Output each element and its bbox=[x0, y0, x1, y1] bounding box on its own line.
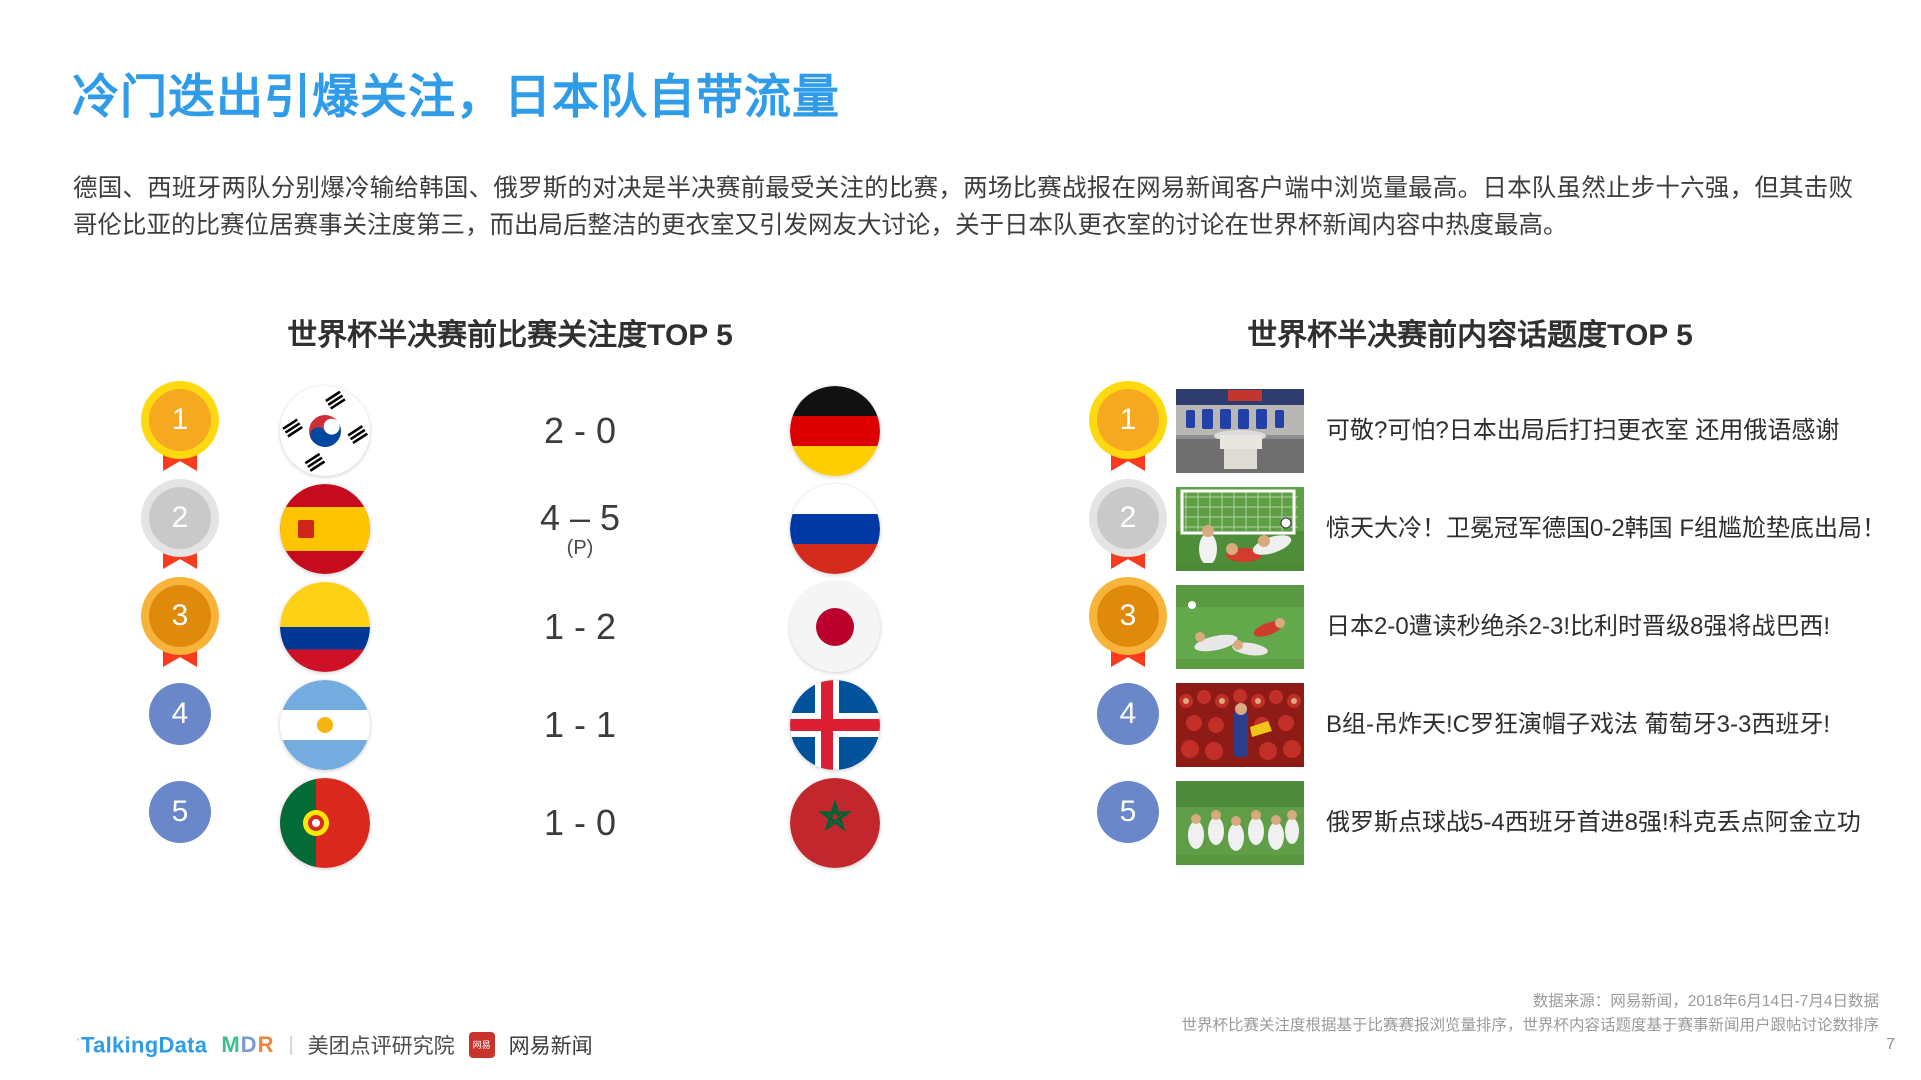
netease-news-logo: 网易新闻 bbox=[509, 1030, 593, 1060]
page-number: 7 bbox=[1886, 1036, 1895, 1054]
topic-row[interactable]: 4B组-吊炸天!C罗狂演帽子戏法 葡萄牙3-3西班牙! bbox=[1080, 676, 1920, 774]
rank-medal-5: 5 bbox=[1097, 781, 1159, 865]
home-team-cell bbox=[240, 680, 410, 770]
flag-south-korea-icon bbox=[280, 386, 370, 476]
rank-medal-1: 1 bbox=[149, 389, 211, 473]
match-row: 41 - 1 bbox=[120, 676, 920, 774]
topic-row[interactable]: 1可敬?可怕?日本出局后打扫更衣室 还用俄语感谢 bbox=[1080, 382, 1920, 480]
topic-rank-cell: 5 bbox=[1080, 781, 1176, 865]
locker-room-photo bbox=[1176, 389, 1304, 473]
match-rank-cell: 5 bbox=[120, 781, 240, 865]
rank-medal-3: 3 bbox=[1097, 585, 1159, 669]
match-score: 4 – 5(P) bbox=[410, 499, 750, 560]
match-score: 1 - 0 bbox=[410, 804, 750, 842]
logo-divider: | bbox=[288, 1034, 293, 1057]
away-team-cell bbox=[750, 778, 920, 868]
left-column-title: 世界杯半决赛前比赛关注度TOP 5 bbox=[130, 310, 890, 354]
topic-rank-cell: 3 bbox=[1080, 585, 1176, 669]
away-team-cell bbox=[750, 582, 920, 672]
rank-number: 1 bbox=[149, 389, 211, 451]
home-team-cell bbox=[240, 484, 410, 574]
away-team-cell bbox=[750, 386, 920, 476]
home-team-cell bbox=[240, 582, 410, 672]
rank-number: 2 bbox=[149, 487, 211, 549]
flag-spain-icon bbox=[280, 484, 370, 574]
rank-number: 4 bbox=[1097, 683, 1159, 745]
match-row: 12 - 0 bbox=[120, 382, 920, 480]
match-rank-cell: 3 bbox=[120, 585, 240, 669]
home-team-cell bbox=[240, 778, 410, 868]
flag-russia-icon bbox=[790, 484, 880, 574]
source-line-1: 数据来源：网易新闻，2018年6月14日-7月4日数据 bbox=[1181, 990, 1879, 1014]
match-rank-cell: 4 bbox=[120, 683, 240, 767]
flag-colombia-icon bbox=[280, 582, 370, 672]
flag-japan-icon bbox=[790, 582, 880, 672]
rank-number: 1 bbox=[1097, 389, 1159, 451]
flag-morocco-icon bbox=[790, 778, 880, 868]
rank-medal-4: 4 bbox=[149, 683, 211, 767]
flag-portugal-icon bbox=[280, 778, 370, 868]
topic-headline[interactable]: 可敬?可怕?日本出局后打扫更衣室 还用俄语感谢 bbox=[1326, 414, 1920, 448]
goal-save-photo bbox=[1176, 487, 1304, 571]
meituan-research-logo: 美团点评研究院 bbox=[308, 1030, 455, 1060]
rank-medal-2: 2 bbox=[1097, 487, 1159, 571]
rank-number: 5 bbox=[149, 781, 211, 843]
celebration-photo bbox=[1176, 781, 1304, 865]
rank-number: 4 bbox=[149, 683, 211, 745]
right-column-title: 世界杯半决赛前内容话题度TOP 5 bbox=[1090, 310, 1850, 354]
topic-headline[interactable]: B组-吊炸天!C罗狂演帽子戏法 葡萄牙3-3西班牙! bbox=[1326, 708, 1920, 742]
rank-number: 2 bbox=[1097, 487, 1159, 549]
mdr-logo: MDR bbox=[221, 1032, 274, 1058]
match-row: 51 - 0 bbox=[120, 774, 920, 872]
match-score: 2 - 0 bbox=[410, 412, 750, 450]
match-rank-cell: 2 bbox=[120, 487, 240, 571]
intro-paragraph: 德国、西班牙两队分别爆冷输给韩国、俄罗斯的对决是半决赛前最受关注的比赛，两场比赛… bbox=[73, 170, 1853, 244]
match-row: 24 – 5(P) bbox=[120, 480, 920, 578]
rank-number: 5 bbox=[1097, 781, 1159, 843]
topic-row[interactable]: 3日本2-0遭读秒绝杀2-3!比利时晋级8强将战巴西! bbox=[1080, 578, 1920, 676]
score-note: (P) bbox=[410, 538, 750, 559]
flag-germany-icon bbox=[790, 386, 880, 476]
rank-medal-1: 1 bbox=[1097, 389, 1159, 473]
footer-logos: ·TalkingData MDR | 美团点评研究院 网易 网易新闻 bbox=[76, 1030, 593, 1060]
topic-rank-cell: 2 bbox=[1080, 487, 1176, 571]
topic-row[interactable]: 2惊天大冷！卫冕冠军德国0-2韩国 F组尴尬垫底出局！ bbox=[1080, 480, 1920, 578]
data-source-note: 数据来源：网易新闻，2018年6月14日-7月4日数据 世界杯比赛关注度根据基于… bbox=[1181, 990, 1879, 1038]
topic-rank-cell: 4 bbox=[1080, 683, 1176, 767]
rank-number: 3 bbox=[149, 585, 211, 647]
talkingdata-logo: ·TalkingData bbox=[76, 1031, 207, 1058]
match-attention-list: 12 - 024 – 5(P)31 - 241 - 151 - 0 bbox=[120, 382, 920, 872]
red-crowd-photo bbox=[1176, 683, 1304, 767]
topic-row[interactable]: 5俄罗斯点球战5-4西班牙首进8强!科克丢点阿金立功 bbox=[1080, 774, 1920, 872]
rank-medal-4: 4 bbox=[1097, 683, 1159, 767]
flag-iceland-icon bbox=[790, 680, 880, 770]
rank-number: 3 bbox=[1097, 585, 1159, 647]
match-score: 1 - 1 bbox=[410, 706, 750, 744]
topic-heat-list: 1可敬?可怕?日本出局后打扫更衣室 还用俄语感谢2惊天大冷！卫冕冠军德国0-2韩… bbox=[1080, 382, 1920, 872]
topic-rank-cell: 1 bbox=[1080, 389, 1176, 473]
slide-root: 冷门迭出引爆关注，日本队自带流量 德国、西班牙两队分别爆冷输给韩国、俄罗斯的对决… bbox=[0, 0, 1921, 1080]
rank-medal-3: 3 bbox=[149, 585, 211, 669]
source-line-2: 世界杯比赛关注度根据基于比赛赛报浏览量排序，世界杯内容话题度基于赛事新闻用户跟帖… bbox=[1181, 1014, 1879, 1038]
topic-headline[interactable]: 惊天大冷！卫冕冠军德国0-2韩国 F组尴尬垫底出局！ bbox=[1326, 512, 1920, 546]
topic-headline[interactable]: 俄罗斯点球战5-4西班牙首进8强!科克丢点阿金立功 bbox=[1326, 806, 1920, 840]
topic-headline[interactable]: 日本2-0遭读秒绝杀2-3!比利时晋级8强将战巴西! bbox=[1326, 610, 1920, 644]
match-rank-cell: 1 bbox=[120, 389, 240, 473]
match-row: 31 - 2 bbox=[120, 578, 920, 676]
netease-badge-icon: 网易 bbox=[469, 1032, 495, 1058]
match-score: 1 - 2 bbox=[410, 608, 750, 646]
home-team-cell bbox=[240, 386, 410, 476]
away-team-cell bbox=[750, 680, 920, 770]
away-team-cell bbox=[750, 484, 920, 574]
flag-argentina-icon bbox=[280, 680, 370, 770]
pitch-players-photo bbox=[1176, 585, 1304, 669]
page-title: 冷门迭出引爆关注，日本队自带流量 bbox=[72, 58, 840, 127]
rank-medal-5: 5 bbox=[149, 781, 211, 865]
rank-medal-2: 2 bbox=[149, 487, 211, 571]
